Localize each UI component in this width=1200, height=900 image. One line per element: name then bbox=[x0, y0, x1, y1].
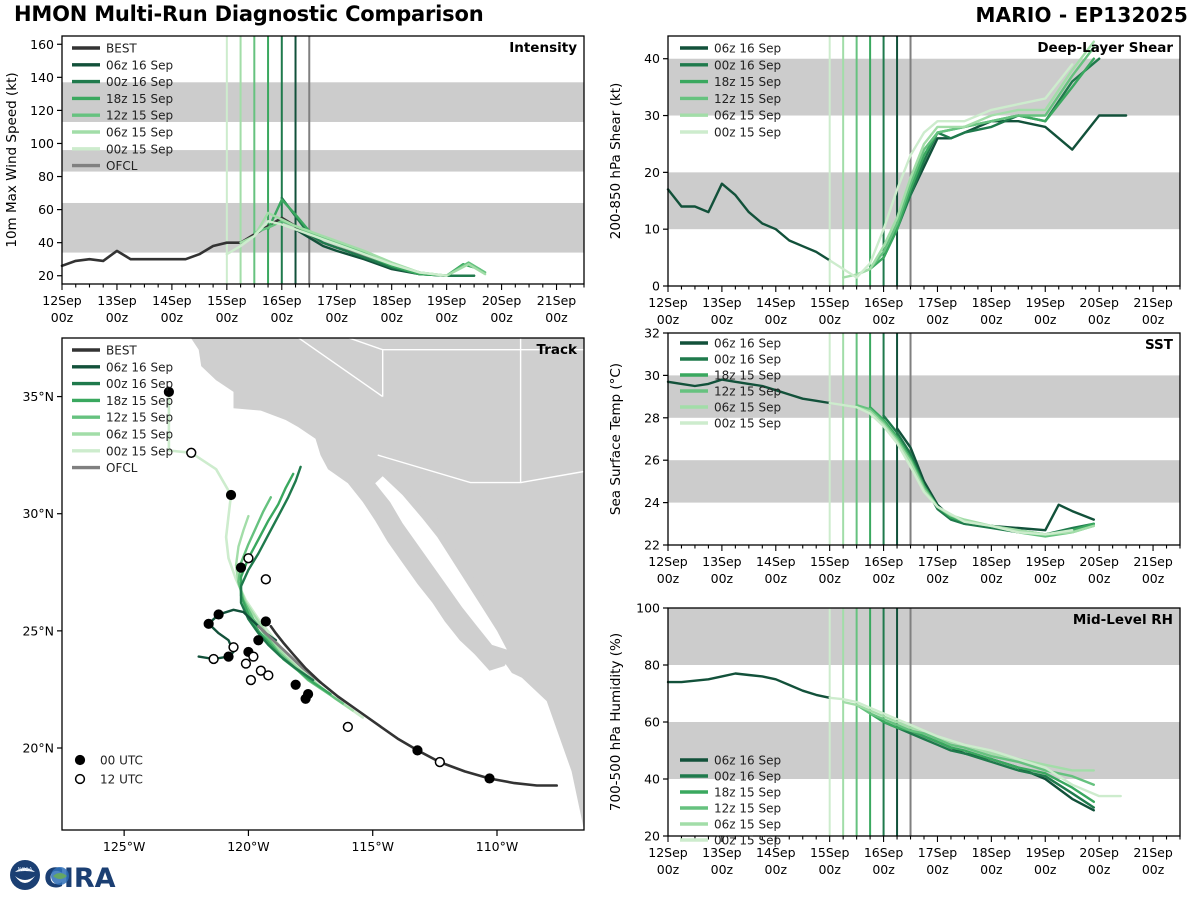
x-tick-sublabel: 00z bbox=[435, 310, 458, 325]
lon-tick-label: 125°W bbox=[103, 839, 145, 854]
x-tick-sublabel: 00z bbox=[1034, 571, 1057, 586]
x-tick-sublabel: 00z bbox=[1142, 571, 1165, 586]
x-tick-sublabel: 00z bbox=[545, 310, 568, 325]
legend-label: 12z 15 Sep bbox=[106, 411, 173, 425]
y-tick-label: 40 bbox=[644, 51, 660, 66]
track-marker-12utc bbox=[249, 652, 258, 661]
legend-label: 06z 16 Sep bbox=[106, 360, 173, 374]
x-tick-label: 21Sep bbox=[537, 293, 577, 308]
track-marker-00utc bbox=[254, 636, 263, 645]
x-tick-label: 16Sep bbox=[864, 295, 904, 310]
x-tick-sublabel: 00z bbox=[380, 310, 403, 325]
track-panel: 20°N25°N30°N35°N125°W120°W115°W110°WTrac… bbox=[0, 330, 600, 870]
x-tick-sublabel: 00z bbox=[1034, 862, 1057, 877]
track-marker-00utc bbox=[236, 563, 245, 572]
x-tick-sublabel: 00z bbox=[490, 310, 513, 325]
track-marker-00utc bbox=[214, 610, 223, 619]
panel-title: Deep-Layer Shear bbox=[1037, 40, 1173, 56]
legend-label: 06z 16 Sep bbox=[714, 754, 781, 768]
lat-tick-label: 30°N bbox=[22, 506, 54, 521]
x-tick-sublabel: 00z bbox=[980, 571, 1003, 586]
page-title-right: MARIO - EP132025 bbox=[976, 3, 1188, 27]
x-tick-label: 18Sep bbox=[972, 845, 1012, 860]
x-tick-label: 18Sep bbox=[372, 293, 412, 308]
x-tick-sublabel: 00z bbox=[926, 571, 949, 586]
x-tick-sublabel: 00z bbox=[711, 862, 734, 877]
x-tick-label: 19Sep bbox=[1026, 295, 1066, 310]
svg-text:NOAA: NOAA bbox=[18, 867, 33, 873]
y-tick-label: 100 bbox=[636, 601, 660, 616]
rh-panel: 2040608010012Sep00z13Sep00z14Sep00z15Sep… bbox=[600, 600, 1200, 895]
shaded-band bbox=[668, 172, 1180, 229]
x-tick-label: 17Sep bbox=[918, 295, 958, 310]
lat-tick-label: 20°N bbox=[22, 741, 54, 756]
x-tick-sublabel: 00z bbox=[765, 862, 788, 877]
track-marker-12utc bbox=[242, 659, 251, 668]
x-tick-sublabel: 00z bbox=[1088, 571, 1111, 586]
legend-label: 00z 16 Sep bbox=[106, 377, 173, 391]
y-tick-label: 22 bbox=[644, 538, 660, 553]
x-tick-label: 14Sep bbox=[152, 293, 192, 308]
track-marker-00utc bbox=[204, 619, 213, 628]
x-tick-label: 21Sep bbox=[1133, 845, 1173, 860]
y-tick-label: 24 bbox=[644, 495, 660, 510]
track-marker-12utc bbox=[209, 655, 218, 664]
track-marker-00utc bbox=[291, 680, 300, 689]
legend-label: 00z 16 Sep bbox=[106, 75, 173, 89]
y-tick-label: 20 bbox=[644, 165, 660, 180]
y-tick-label: 32 bbox=[644, 326, 660, 341]
x-tick-label: 14Sep bbox=[756, 554, 796, 569]
x-tick-sublabel: 00z bbox=[657, 862, 680, 877]
x-tick-label: 20Sep bbox=[1079, 554, 1119, 569]
y-tick-label: 28 bbox=[644, 410, 660, 425]
lat-tick-label: 25°N bbox=[22, 623, 54, 638]
legend-label: 18z 15 Sep bbox=[714, 369, 781, 383]
y-tick-label: 30 bbox=[644, 368, 660, 383]
marker-legend-label: 12 UTC bbox=[100, 773, 143, 787]
x-tick-label: 15Sep bbox=[810, 554, 850, 569]
x-tick-label: 13Sep bbox=[702, 554, 742, 569]
x-tick-sublabel: 00z bbox=[926, 862, 949, 877]
legend-label: 18z 15 Sep bbox=[714, 786, 781, 800]
x-tick-sublabel: 00z bbox=[765, 571, 788, 586]
y-tick-label: 40 bbox=[38, 235, 54, 250]
x-tick-sublabel: 00z bbox=[872, 571, 895, 586]
y-axis-label: Sea Surface Temp (°C) bbox=[608, 363, 624, 515]
legend-label: 12z 15 Sep bbox=[714, 802, 781, 816]
y-tick-label: 40 bbox=[644, 772, 660, 787]
x-tick-label: 18Sep bbox=[972, 554, 1012, 569]
x-tick-label: 12Sep bbox=[42, 293, 82, 308]
x-tick-label: 17Sep bbox=[918, 554, 958, 569]
x-tick-sublabel: 00z bbox=[216, 310, 239, 325]
panel-title: Intensity bbox=[509, 40, 577, 56]
x-tick-label: 13Sep bbox=[97, 293, 137, 308]
x-tick-label: 17Sep bbox=[317, 293, 357, 308]
legend-label: 00z 16 Sep bbox=[714, 353, 781, 367]
x-tick-label: 12Sep bbox=[648, 845, 688, 860]
x-tick-label: 14Sep bbox=[756, 295, 796, 310]
x-tick-label: 21Sep bbox=[1133, 295, 1173, 310]
x-tick-label: 18Sep bbox=[972, 295, 1012, 310]
legend-label: BEST bbox=[106, 42, 137, 56]
legend-label: 06z 15 Sep bbox=[714, 109, 781, 123]
shear-panel: 01020304012Sep00z13Sep00z14Sep00z15Sep00… bbox=[600, 28, 1200, 350]
y-axis-label: 10m Max Wind Speed (kt) bbox=[4, 72, 20, 247]
track-marker-12utc bbox=[187, 448, 196, 457]
legend-label: 00z 15 Sep bbox=[714, 126, 781, 140]
x-tick-label: 12Sep bbox=[648, 554, 688, 569]
x-tick-sublabel: 00z bbox=[818, 571, 841, 586]
track-marker-12utc bbox=[435, 758, 444, 767]
x-tick-label: 16Sep bbox=[864, 554, 904, 569]
legend-label: 00z 15 Sep bbox=[714, 834, 781, 848]
track-marker-12utc bbox=[261, 575, 270, 584]
y-tick-label: 100 bbox=[30, 136, 54, 151]
lon-tick-label: 115°W bbox=[351, 839, 393, 854]
x-tick-label: 20Sep bbox=[1079, 295, 1119, 310]
x-tick-label: 21Sep bbox=[1133, 554, 1173, 569]
x-tick-label: 19Sep bbox=[1026, 554, 1066, 569]
panel-title: SST bbox=[1145, 337, 1174, 353]
x-tick-label: 15Sep bbox=[810, 295, 850, 310]
x-tick-label: 15Sep bbox=[810, 845, 850, 860]
x-tick-sublabel: 00z bbox=[657, 571, 680, 586]
legend-label: 12z 15 Sep bbox=[106, 109, 173, 123]
intensity-panel: 2040608010012014016012Sep00z13Sep00z14Se… bbox=[0, 28, 600, 348]
y-tick-label: 26 bbox=[644, 453, 660, 468]
y-axis-label: 700-500 hPa Humidity (%) bbox=[608, 633, 624, 811]
panel-title: Track bbox=[537, 342, 578, 358]
x-tick-sublabel: 00z bbox=[1088, 862, 1111, 877]
legend-label: 00z 15 Sep bbox=[106, 444, 173, 458]
x-tick-label: 19Sep bbox=[1026, 845, 1066, 860]
lon-tick-label: 110°W bbox=[476, 839, 518, 854]
y-tick-label: 60 bbox=[38, 202, 54, 217]
track-marker-00utc bbox=[261, 617, 270, 626]
legend-label: 06z 15 Sep bbox=[714, 401, 781, 415]
panel-title: Mid-Level RH bbox=[1073, 612, 1173, 628]
legend-label: 00z 15 Sep bbox=[714, 417, 781, 431]
y-tick-label: 140 bbox=[30, 70, 54, 85]
y-tick-label: 20 bbox=[644, 829, 660, 844]
track-marker-00utc bbox=[485, 774, 494, 783]
x-tick-sublabel: 00z bbox=[51, 310, 74, 325]
x-tick-label: 12Sep bbox=[648, 295, 688, 310]
legend-label: 06z 15 Sep bbox=[714, 818, 781, 832]
x-tick-label: 16Sep bbox=[262, 293, 302, 308]
x-tick-sublabel: 00z bbox=[161, 310, 184, 325]
x-tick-sublabel: 00z bbox=[872, 862, 895, 877]
x-tick-sublabel: 00z bbox=[106, 310, 129, 325]
track-marker-00utc bbox=[224, 652, 233, 661]
x-tick-sublabel: 00z bbox=[711, 571, 734, 586]
x-tick-sublabel: 00z bbox=[980, 862, 1003, 877]
x-tick-label: 17Sep bbox=[918, 845, 958, 860]
y-tick-label: 0 bbox=[652, 279, 660, 294]
x-tick-label: 19Sep bbox=[427, 293, 467, 308]
x-tick-label: 16Sep bbox=[864, 845, 904, 860]
legend-label: 06z 16 Sep bbox=[106, 58, 173, 72]
legend-label: 12z 15 Sep bbox=[714, 92, 781, 106]
y-axis-label: 200-850 hPa Shear (kt) bbox=[608, 83, 624, 240]
y-tick-label: 80 bbox=[644, 658, 660, 673]
page-title-left: HMON Multi-Run Diagnostic Comparison bbox=[14, 2, 483, 26]
legend-label: OFCL bbox=[106, 159, 138, 173]
track-marker-00utc bbox=[301, 694, 310, 703]
marker-legend-00utc-icon bbox=[75, 755, 84, 764]
legend-label: 18z 15 Sep bbox=[714, 75, 781, 89]
x-tick-label: 13Sep bbox=[702, 295, 742, 310]
lat-tick-label: 35°N bbox=[22, 389, 54, 404]
lon-tick-label: 120°W bbox=[227, 839, 269, 854]
legend-label: 06z 15 Sep bbox=[106, 126, 173, 140]
legend-label: 12z 15 Sep bbox=[714, 385, 781, 399]
marker-legend-12utc-icon bbox=[76, 775, 85, 784]
track-marker-00utc bbox=[413, 746, 422, 755]
y-tick-label: 120 bbox=[30, 103, 54, 118]
sst-panel: 22242628303212Sep00z13Sep00z14Sep00z15Se… bbox=[600, 325, 1200, 605]
legend-label: 00z 16 Sep bbox=[714, 770, 781, 784]
legend-label: BEST bbox=[106, 344, 137, 358]
x-tick-label: 20Sep bbox=[1079, 845, 1119, 860]
legend-label: OFCL bbox=[106, 461, 138, 475]
track-marker-12utc bbox=[247, 676, 256, 685]
y-tick-label: 160 bbox=[30, 37, 54, 52]
track-marker-00utc bbox=[226, 490, 235, 499]
y-tick-label: 80 bbox=[38, 169, 54, 184]
diagnostic-comparison-page: HMON Multi-Run Diagnostic Comparison MAR… bbox=[0, 0, 1200, 900]
legend-label: 18z 15 Sep bbox=[106, 92, 173, 106]
legend-label: 06z 15 Sep bbox=[106, 428, 173, 442]
y-tick-label: 10 bbox=[644, 222, 660, 237]
marker-legend-label: 00 UTC bbox=[100, 754, 143, 768]
x-tick-sublabel: 00z bbox=[271, 310, 294, 325]
legend-label: 00z 15 Sep bbox=[106, 142, 173, 156]
x-tick-sublabel: 00z bbox=[818, 862, 841, 877]
noaa-seal-icon bbox=[10, 860, 40, 890]
x-tick-sublabel: 00z bbox=[1142, 862, 1165, 877]
track-marker-12utc bbox=[264, 671, 273, 680]
legend-label: 06z 16 Sep bbox=[714, 337, 781, 351]
legend-label: 18z 15 Sep bbox=[106, 394, 173, 408]
x-tick-label: 20Sep bbox=[482, 293, 522, 308]
legend-label: 06z 16 Sep bbox=[714, 42, 781, 56]
y-tick-label: 20 bbox=[38, 268, 54, 283]
track-marker-12utc bbox=[229, 643, 238, 652]
track-marker-12utc bbox=[343, 723, 352, 732]
cira-noaa-logo: NOAA CIRA bbox=[8, 854, 128, 896]
x-tick-label: 15Sep bbox=[207, 293, 247, 308]
y-tick-label: 60 bbox=[644, 715, 660, 730]
y-tick-label: 30 bbox=[644, 108, 660, 123]
series-line bbox=[668, 674, 830, 698]
x-tick-sublabel: 00z bbox=[326, 310, 349, 325]
track-marker-12utc bbox=[244, 554, 253, 563]
legend-label: 00z 16 Sep bbox=[714, 58, 781, 72]
